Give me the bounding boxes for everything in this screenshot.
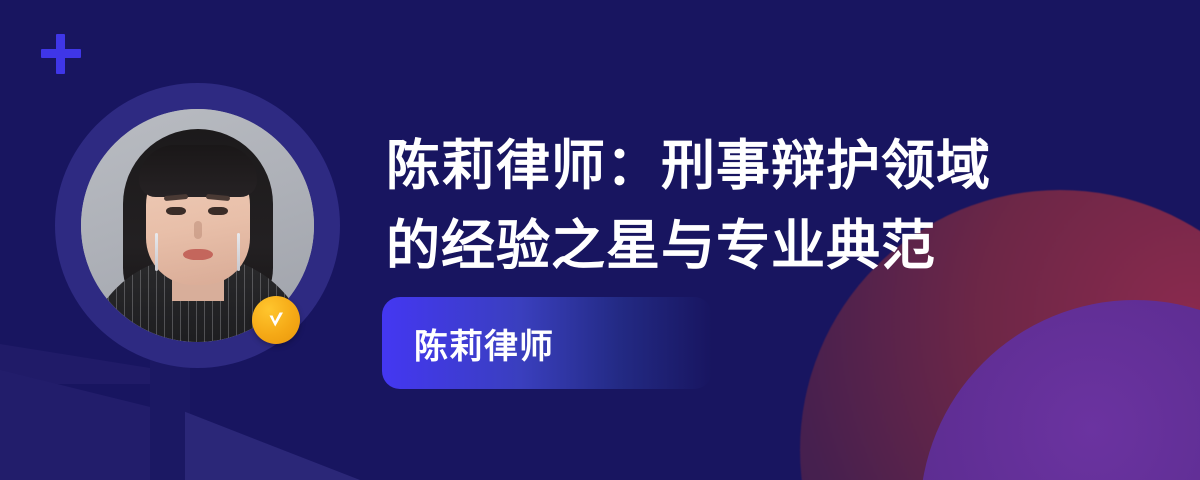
- portrait-eye-left: [166, 207, 186, 215]
- portrait-earring-right: [237, 233, 240, 271]
- page-title: 陈莉律师：刑事辩护领域 的经验之星与专业典范: [386, 126, 1086, 286]
- page-title-line-2: 的经验之星与专业典范: [386, 206, 1086, 286]
- decorative-bar: [150, 355, 190, 480]
- portrait-earring-left: [155, 233, 158, 271]
- page-title-line-1: 陈莉律师：刑事辩护领域: [386, 126, 1086, 206]
- decorative-wedge-right: [185, 370, 360, 480]
- verified-badge-icon: [252, 296, 300, 344]
- avatar: [55, 83, 340, 368]
- author-name-pill[interactable]: 陈莉律师: [382, 297, 712, 389]
- portrait-mouth: [183, 249, 213, 260]
- portrait-nose: [194, 221, 202, 239]
- portrait-fringe: [139, 145, 257, 197]
- portrait-eye-right: [208, 207, 228, 215]
- author-name-label: 陈莉律师: [382, 319, 554, 368]
- plus-icon: [41, 34, 81, 74]
- profile-banner: 陈莉律师：刑事辩护领域 的经验之星与专业典范 陈莉律师: [0, 0, 1200, 480]
